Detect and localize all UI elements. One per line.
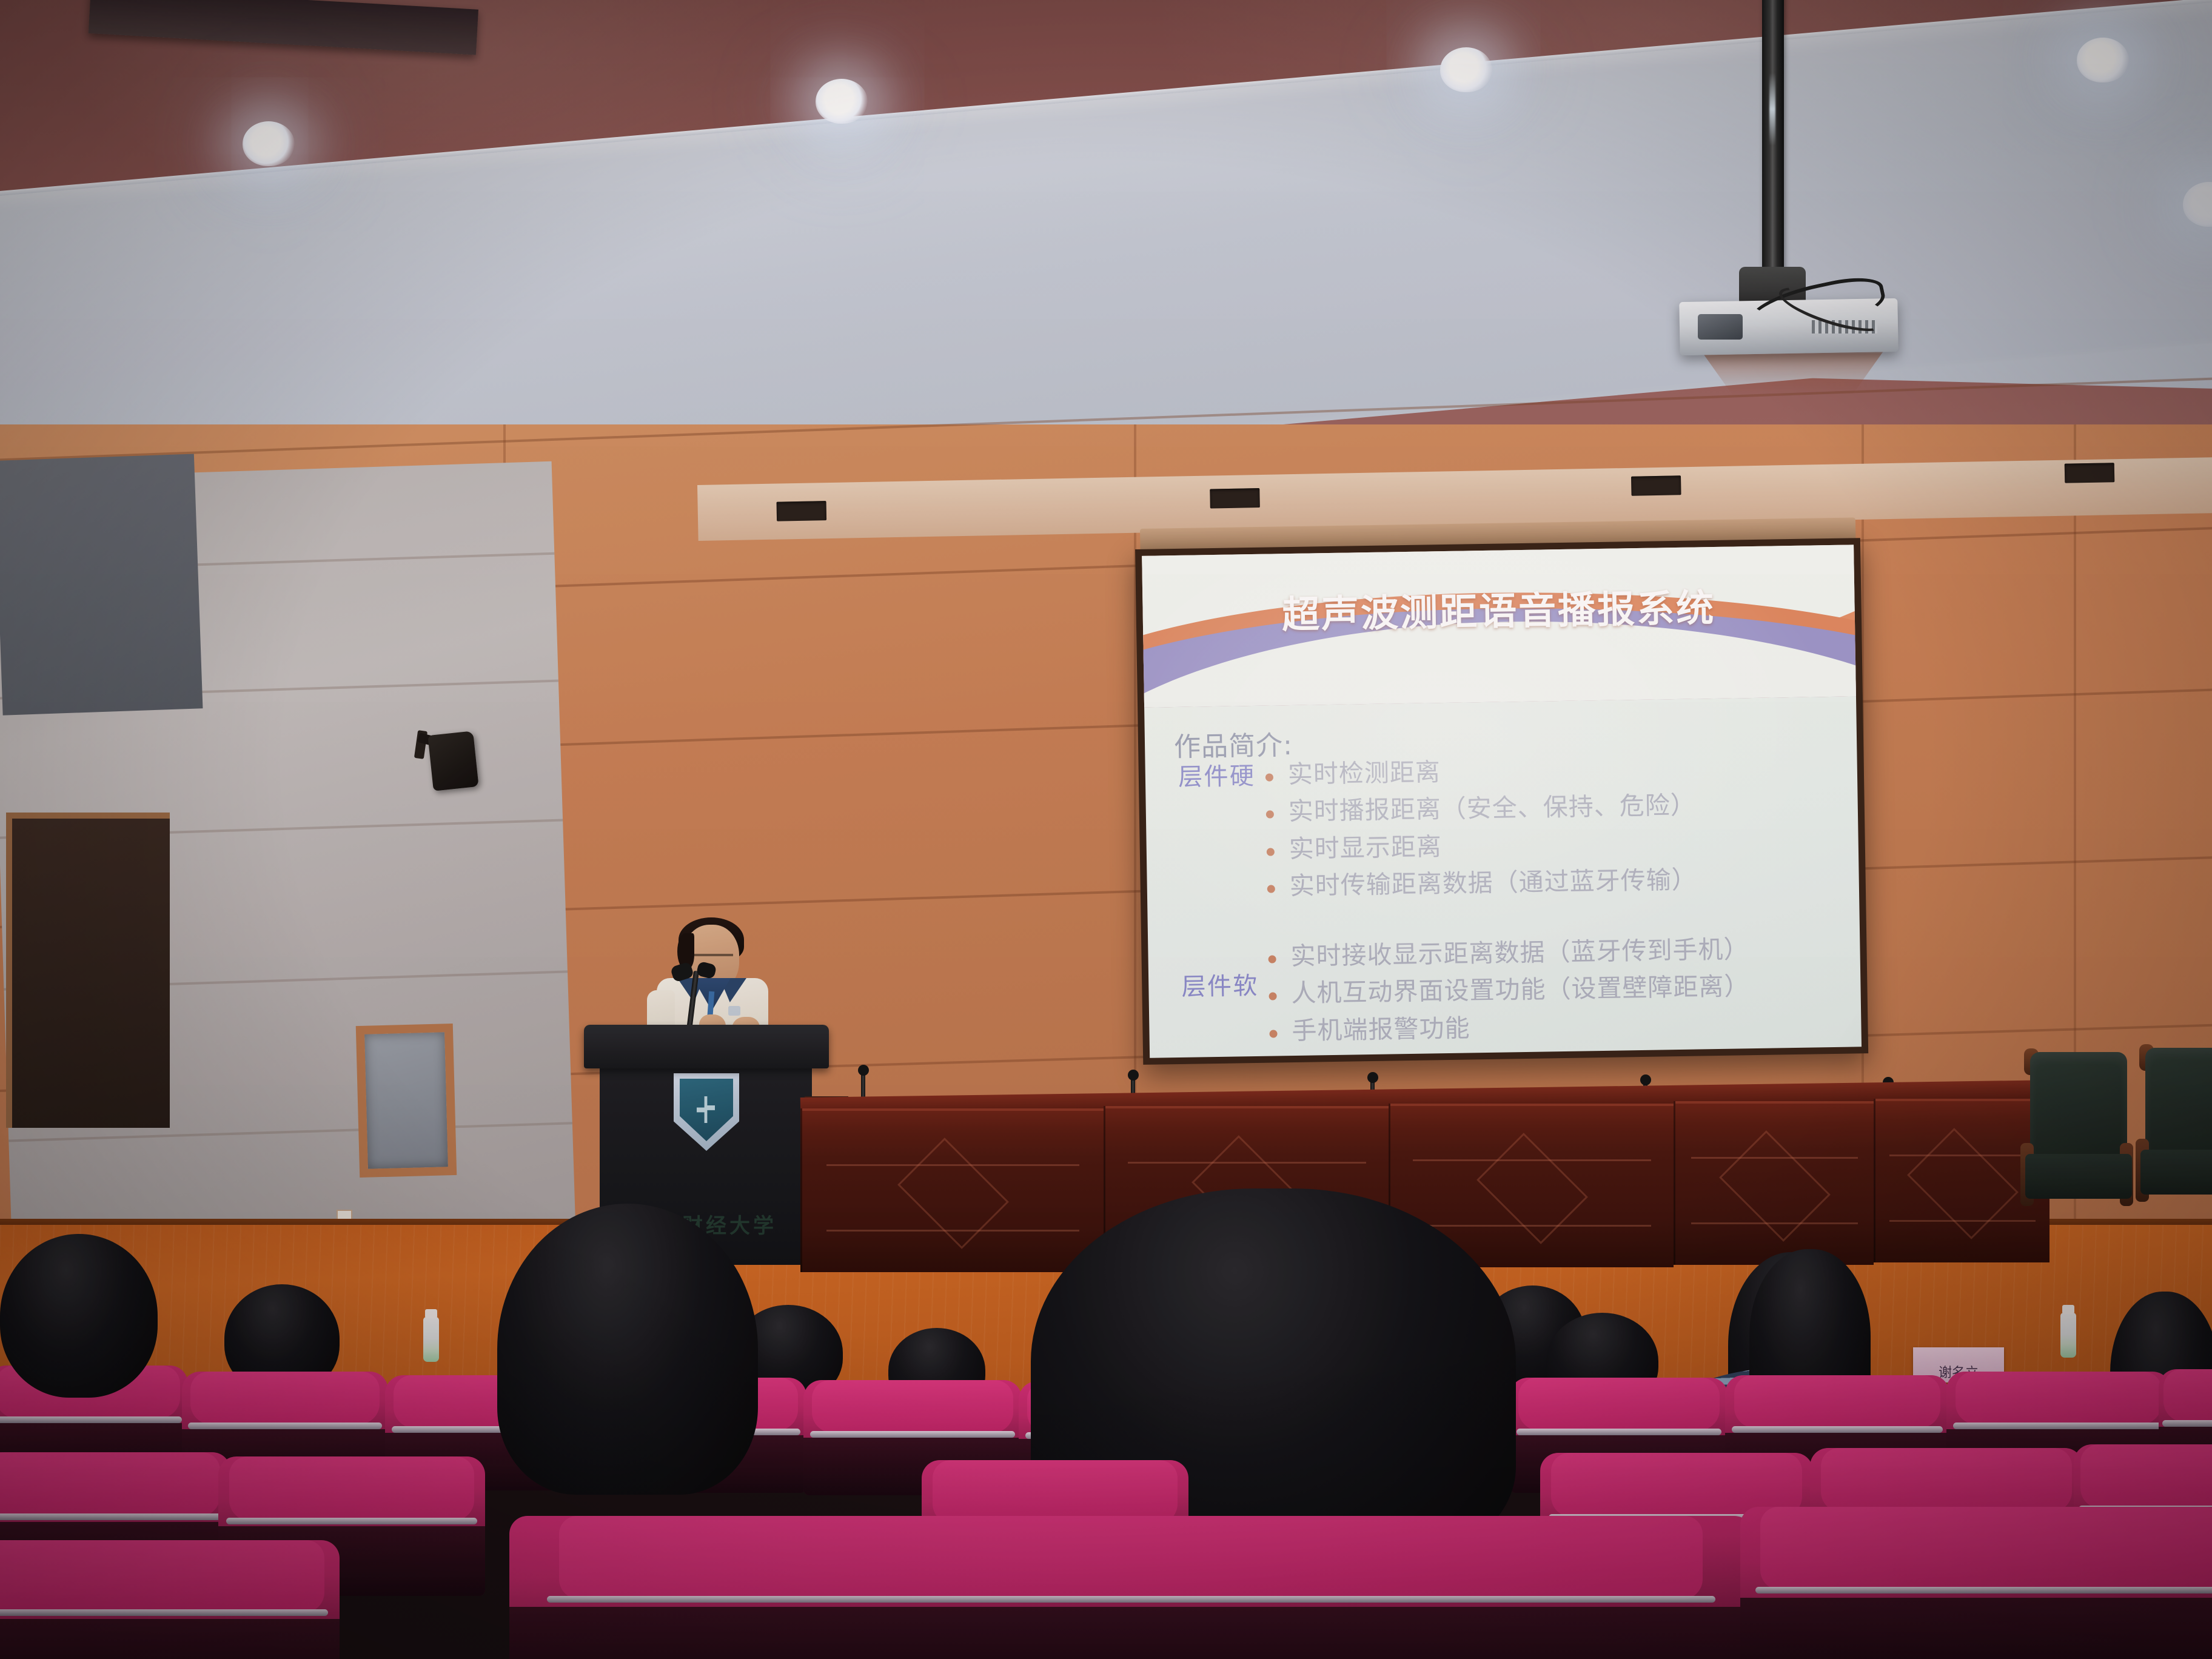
bullet-label: 实时检测距离 [1287,757,1441,789]
layer-tag-hardware: 硬件层 [1218,763,1253,789]
audience-head-small-left [0,1234,158,1398]
projector-lens [1698,314,1743,340]
bullet-dot-icon [1267,885,1275,893]
bullet-list-hardware: 实时检测距离 实时播报距离（安全、保持、危险） 实时显示距离 实时传输 [1265,754,1697,910]
ceiling-vent-2 [1210,488,1260,508]
ceiling-downlight-2 [816,79,868,124]
university-crest-icon [674,1073,739,1151]
projection-screen-frame: 超声波测距语音播报系统 作品简介: 硬件层 实时检测距离 实时播报距离（安全、保… [1135,538,1868,1065]
auditorium-scene: 超声波测距语音播报系统 作品简介: 硬件层 实时检测距离 实时播报距离（安全、保… [0,0,2212,1659]
slide-body: 作品简介: 硬件层 实时检测距离 实时播报距离（安全、保持、危险） [1144,697,1862,1057]
list-item: 实时检测距离 [1265,754,1695,790]
bullet-label: 实时传输距离数据（通过蓝牙传输） [1289,865,1697,901]
presenter-glasses [691,954,733,962]
bullet-dot-icon [1269,955,1276,963]
bullet-label: 人机互动界面设置功能（设置壁障距离） [1291,972,1750,1008]
list-item: 实时接收显示距离数据（蓝牙传到手机） [1268,934,1749,971]
ceiling-vent-1 [777,501,827,521]
stage-armchair-2 [2134,1048,2212,1230]
ceiling-downlight-3 [1440,47,1492,92]
bullet-dot-icon [1269,993,1277,1000]
stage-armchair-1 [2019,1052,2134,1234]
bullet-dot-icon [1269,1030,1277,1037]
bullet-label: 实时显示距离 [1289,832,1442,863]
ceiling-downlight-1 [243,121,295,166]
bullet-list-software: 实时接收显示距离数据（蓝牙传到手机） 人机互动界面设置功能（设置壁障距离） 手机… [1268,934,1751,1054]
bullet-dot-icon [1266,811,1274,819]
foreground-audience-head-left [497,1204,758,1495]
podium-top-surface [584,1025,829,1068]
layer-tag-software: 软件层 [1221,973,1256,999]
audience-seat-f2 [509,1516,1752,1659]
water-bottle-1 [423,1317,439,1362]
projector-pole-highlight [1769,73,1775,146]
ceiling-downlight-4 [2077,38,2129,82]
slide-lead-label: 作品简介: [1174,723,1293,764]
list-item: 实时播报距离（安全、保持、危险） [1265,791,1696,827]
list-item: 实时显示距离 [1266,828,1697,864]
list-item: 手机端报警功能 [1269,1009,1751,1046]
table-panel-1 [800,1108,1104,1272]
projection-screen: 超声波测距语音播报系统 作品简介: 硬件层 实时检测距离 实时播报距离（安全、保… [1142,545,1862,1057]
bullet-label: 实时播报距离（安全、保持、危险） [1288,791,1696,826]
ceiling-vent-3 [1631,475,1681,495]
slide-title: 超声波测距语音播报系统 [1142,575,1855,640]
wall-dark-alcove [0,454,203,715]
wall-window-vent [356,1024,457,1178]
ceiling-downlight-5 [2183,182,2212,227]
bullet-dot-icon [1265,773,1273,781]
wall-recess-opening [6,813,170,1128]
list-item: 实时传输距离数据（通过蓝牙传输） [1267,865,1697,902]
bullet-label: 实时接收显示距离数据（蓝牙传到手机） [1290,934,1749,971]
audience-seat-f1 [0,1540,340,1659]
audience-seat-f3 [1740,1507,2212,1659]
wall-speaker-icon [418,725,476,788]
table-panel-4 [1674,1101,1874,1265]
water-bottle-2 [2060,1313,2076,1358]
list-item: 人机互动界面设置功能（设置壁障距离） [1269,972,1750,1009]
bullet-dot-icon [1267,848,1275,856]
bullet-label: 手机端报警功能 [1292,1013,1470,1045]
presenter-badge [728,1006,740,1016]
ceiling-vent-4 [2065,463,2115,483]
